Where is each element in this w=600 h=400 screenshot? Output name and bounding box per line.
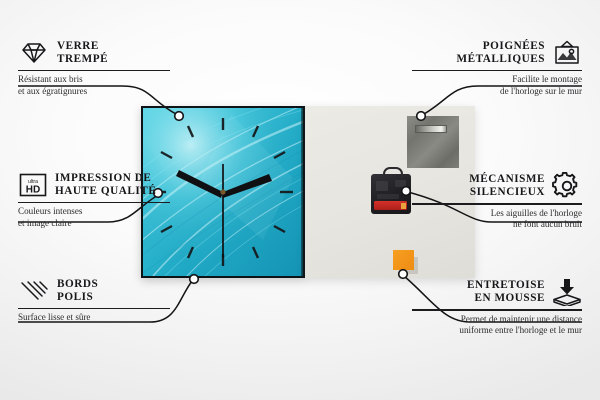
connector-dot-entretoise (399, 270, 408, 279)
feature-subtitle-line2: et aux égratignures (18, 86, 170, 97)
feature-title-line1: ENTRETOISE (467, 279, 545, 292)
feature-subtitle-line1: Permet de maintenir une distance (412, 314, 582, 325)
feature-title-line2: EN MOUSSE (467, 292, 545, 305)
feature-subtitle-line1: Couleurs intenses (18, 206, 170, 217)
feature-title-line2: HAUTE QUALITÉ (55, 185, 156, 198)
feature-subtitle-line1: Surface lisse et sûre (18, 312, 170, 323)
feature-entretoise-en-mousse: ENTRETOISE EN MOUSSE Permet de maintenir… (412, 278, 582, 336)
feature-mecanisme-silencieux: MÉCANISME SILENCIEUX Les aiguilles de l'… (412, 172, 582, 230)
feature-subtitle-line2: de l'horloge sur le mur (412, 86, 582, 97)
feature-subtitle-line2: ne font aucun bruit (412, 219, 582, 230)
connector-dot-poignees (417, 112, 426, 121)
hd-label: HD (26, 185, 40, 196)
feature-verre-trempe: VERRE TREMPÉ Résistant aux bris et aux é… (18, 40, 170, 97)
feature-title-line1: IMPRESSION DE (55, 172, 156, 185)
feature-rule (412, 203, 582, 205)
feature-bords-polis: BORDS POLIS Surface lisse et sûre (18, 278, 170, 324)
foam-spacer-icon (552, 278, 582, 306)
feature-rule (18, 202, 170, 204)
feature-impression-haute-qualite: ultra HD IMPRESSION DE HAUTE QUALITÉ Cou… (18, 172, 170, 229)
feature-subtitle-line1: Résistant aux bris (18, 74, 170, 85)
feature-title-line2: MÉTALLIQUES (456, 53, 545, 66)
feature-subtitle-line2: uniforme entre l'horloge et le mur (412, 325, 582, 336)
feature-title-line2: SILENCIEUX (469, 186, 545, 199)
feature-poignees-metalliques: POIGNÉES MÉTALLIQUES Facilite le montage… (412, 40, 582, 97)
feature-title-line1: VERRE (57, 40, 108, 53)
feature-title-line2: POLIS (57, 291, 98, 304)
feature-rule (18, 308, 170, 310)
feature-rule (18, 70, 170, 72)
feature-subtitle-line1: Facilite le montage (412, 74, 582, 85)
feature-subtitle-line2: et image claire (18, 218, 170, 229)
feature-title-line2: TREMPÉ (57, 53, 108, 66)
connector-dot-mecanisme (402, 187, 411, 196)
polished-edge-icon (18, 279, 50, 303)
feature-rule (412, 309, 582, 311)
feature-title-line1: MÉCANISME (469, 173, 545, 186)
infographic-canvas: VERRE TREMPÉ Résistant aux bris et aux é… (0, 0, 600, 400)
feature-rule (412, 70, 582, 72)
gear-icon (552, 172, 582, 200)
connector-dot-verre (175, 112, 184, 121)
hanging-frame-icon (552, 40, 582, 66)
connector-dot-bords (190, 275, 199, 284)
feature-title-line1: POIGNÉES (456, 40, 545, 53)
ultra-hd-icon: ultra HD (18, 172, 48, 198)
feature-title-line1: BORDS (57, 278, 98, 291)
feature-subtitle-line1: Les aiguilles de l'horloge (412, 208, 582, 219)
diamond-icon (18, 41, 50, 65)
